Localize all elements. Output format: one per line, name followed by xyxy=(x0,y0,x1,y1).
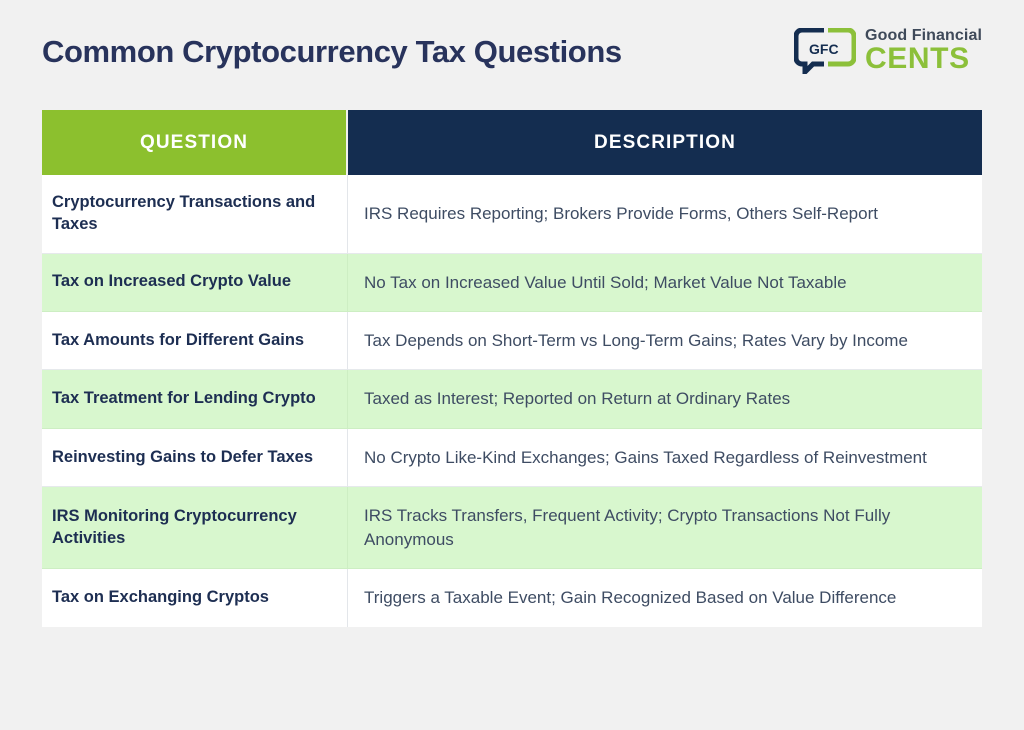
table-row: Tax on Exchanging Cryptos Triggers a Tax… xyxy=(42,569,982,626)
brand-logo: GFC Good Financial CENTS xyxy=(794,28,982,74)
cell-description: Tax Depends on Short-Term vs Long-Term G… xyxy=(348,312,982,370)
gfc-monogram-text: GFC xyxy=(809,41,839,57)
table-body: Cryptocurrency Transactions and Taxes IR… xyxy=(42,175,982,627)
gfc-speech-bubble-icon: GFC xyxy=(794,28,856,74)
cell-question: Tax on Exchanging Cryptos xyxy=(42,569,348,626)
table-row: IRS Monitoring Cryptocurrency Activities… xyxy=(42,487,982,569)
infographic-page: Common Cryptocurrency Tax Questions GFC … xyxy=(0,0,1024,730)
cell-description: IRS Requires Reporting; Brokers Provide … xyxy=(348,175,982,254)
table-row: Tax Treatment for Lending Crypto Taxed a… xyxy=(42,370,982,428)
page-title: Common Cryptocurrency Tax Questions xyxy=(42,35,622,69)
column-header-description: DESCRIPTION xyxy=(348,110,982,175)
cell-question: Cryptocurrency Transactions and Taxes xyxy=(42,175,348,254)
cell-description: Taxed as Interest; Reported on Return at… xyxy=(348,370,982,428)
cell-question: Tax Amounts for Different Gains xyxy=(42,312,348,370)
cell-description: Triggers a Taxable Event; Gain Recognize… xyxy=(348,569,982,626)
table-row: Cryptocurrency Transactions and Taxes IR… xyxy=(42,175,982,254)
cell-question: IRS Monitoring Cryptocurrency Activities xyxy=(42,487,348,569)
table-row: Tax on Increased Crypto Value No Tax on … xyxy=(42,254,982,312)
cell-description: No Tax on Increased Value Until Sold; Ma… xyxy=(348,254,982,312)
faq-table-container: QUESTION DESCRIPTION Cryptocurrency Tran… xyxy=(42,110,982,627)
cell-question: Reinvesting Gains to Defer Taxes xyxy=(42,429,348,487)
logo-wordmark: Good Financial CENTS xyxy=(865,28,982,74)
cell-description: No Crypto Like-Kind Exchanges; Gains Tax… xyxy=(348,429,982,487)
cell-question: Tax on Increased Crypto Value xyxy=(42,254,348,312)
faq-table: QUESTION DESCRIPTION Cryptocurrency Tran… xyxy=(42,110,982,627)
table-row: Reinvesting Gains to Defer Taxes No Cryp… xyxy=(42,429,982,487)
logo-line-cents: CENTS xyxy=(865,45,982,74)
table-head: QUESTION DESCRIPTION xyxy=(42,110,982,175)
table-row: Tax Amounts for Different Gains Tax Depe… xyxy=(42,312,982,370)
cell-question: Tax Treatment for Lending Crypto xyxy=(42,370,348,428)
page-header: Common Cryptocurrency Tax Questions GFC … xyxy=(0,0,1024,100)
column-header-question: QUESTION xyxy=(42,110,348,175)
cell-description: IRS Tracks Transfers, Frequent Activity;… xyxy=(348,487,982,569)
table-header-row: QUESTION DESCRIPTION xyxy=(42,110,982,175)
